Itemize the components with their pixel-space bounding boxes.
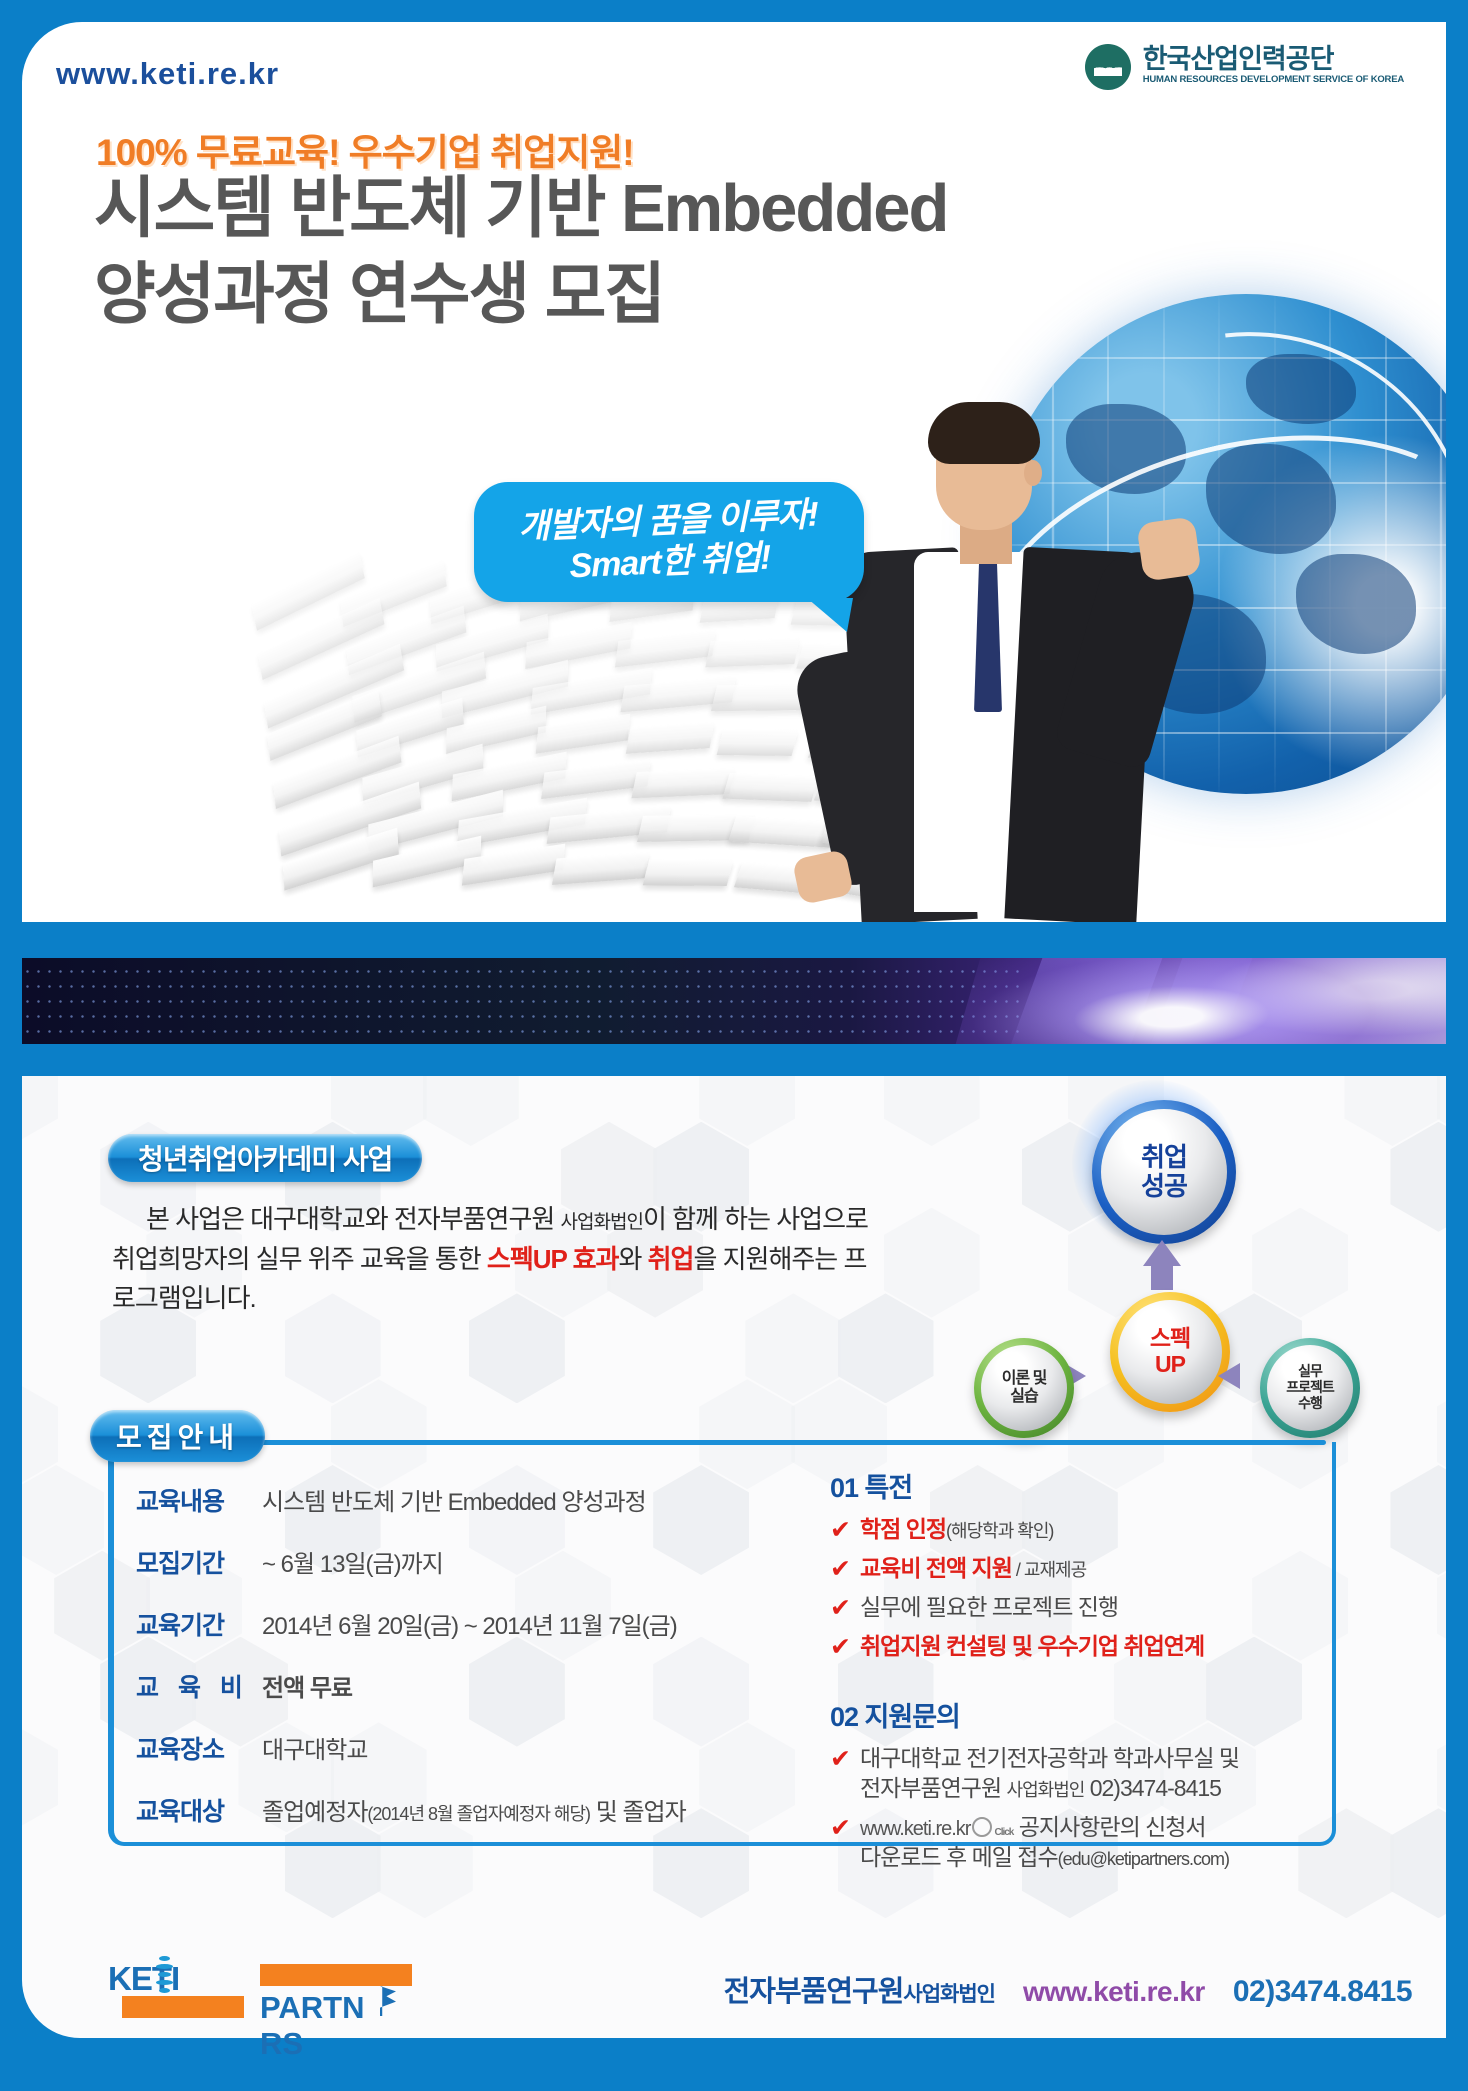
hero-website-url[interactable]: www.keti.re.kr [56, 56, 279, 92]
benefit-item: ✔실무에 필요한 프로젝트 진행 [830, 1593, 1300, 1623]
partners-wordmark: PARTN RS [260, 1990, 368, 2062]
diagram-node-success: 취업 성공 [1092, 1100, 1236, 1244]
contact-title: 02 지원문의 [830, 1695, 1300, 1734]
info-row: 교육기간2014년 6월 20일(금) ~ 2014년 11월 7일(금) [136, 1606, 796, 1642]
info-row-label: 교육내용 [136, 1482, 262, 1518]
specup-line1: 스펙 [1150, 1326, 1190, 1352]
info-row-value: 전액 무료 [262, 1668, 352, 1703]
contact-text: www.keti.re.krClick 공지사항란의 신청서다운로드 후 메일 … [860, 1813, 1229, 1873]
keti-url-link[interactable]: www.keti.re.kr [860, 1818, 970, 1840]
contact-list: ✔대구대학교 전기전자공학과 학과사무실 및전자부품연구원 사업화법인 02)3… [830, 1744, 1300, 1873]
hexagon-shape [22, 1076, 58, 1146]
benefit-item: ✔학점 인정(해당학과 확인) [830, 1515, 1300, 1545]
diagram-node-project: 실무 프로젝트 수행 [1260, 1338, 1360, 1438]
benefits-title: 01 특전 [830, 1466, 1300, 1505]
info-row-label: 교 육 비 [136, 1668, 262, 1704]
info-row-label: 교육기간 [136, 1606, 262, 1642]
info-row-value: ~ 6월 13일(금)까지 [262, 1544, 443, 1579]
info-row: 교 육 비전액 무료 [136, 1668, 796, 1704]
theory-line2: 실습 [1002, 1388, 1047, 1406]
project-line3: 수행 [1286, 1396, 1334, 1412]
check-icon: ✔ [830, 1515, 860, 1545]
project-line2: 프로젝트 [1286, 1380, 1334, 1396]
info-row-value: 대구대학교 [262, 1730, 367, 1765]
info-row-label: 교육장소 [136, 1730, 262, 1766]
footer: KETI PARTN RS 전자부품연구원사업화법인 www.keti.re.k… [0, 1962, 1468, 2040]
success-line2: 성공 [1141, 1172, 1187, 1201]
info-row-label: 모집기간 [136, 1544, 262, 1580]
hrd-korea-name-en: HUMAN RESOURCES DEVELOPMENT SERVICE OF K… [1143, 73, 1404, 87]
keti-dna-icon [155, 1956, 173, 1998]
recruitment-info-top-rule [108, 1440, 1326, 1445]
section-academy-description: 본 사업은 대구대학교와 전자부품연구원 사업화법인이 함께 하는 사업으로 취… [112, 1200, 872, 1319]
right-column: 01 특전 ✔학점 인정(해당학과 확인)✔교육비 전액 지원 / 교재제공✔실… [830, 1466, 1300, 1882]
benefit-item: ✔교육비 전액 지원 / 교재제공 [830, 1554, 1300, 1584]
logo-bar-top [260, 1964, 412, 1986]
footer-org-name: 전자부품연구원 [724, 1976, 904, 2008]
desc-part1: 본 사업은 대구대학교와 전자부품연구원 [146, 1204, 561, 1234]
info-row-label: 교육대상 [136, 1792, 262, 1828]
specup-line2: UP [1150, 1352, 1190, 1378]
band-dot-pattern [22, 964, 1019, 1038]
hexagon-shape [22, 1722, 58, 1832]
check-icon: ✔ [830, 1593, 860, 1623]
speech-bubble-line1: 개발자의 꿈을 이루자! [517, 494, 818, 549]
benefit-text: 교육비 전액 지원 / 교재제공 [860, 1554, 1086, 1584]
contact-item: ✔대구대학교 전기전자공학과 학과사무실 및전자부품연구원 사업화법인 02)3… [830, 1744, 1300, 1804]
info-row: 모집기간~ 6월 13일(금)까지 [136, 1544, 796, 1580]
footer-telephone: 02)3474.8415 [1233, 1975, 1412, 2009]
contact-item: ✔www.keti.re.krClick 공지사항란의 신청서다운로드 후 메일… [830, 1813, 1300, 1873]
benefits-list: ✔학점 인정(해당학과 확인)✔교육비 전액 지원 / 교재제공✔실무에 필요한… [830, 1515, 1300, 1662]
page-title: 시스템 반도체 기반 Embedded 양성과정 연수생 모집 [94, 166, 947, 338]
hexagon-shape [1390, 1465, 1446, 1575]
desc-highlight-specup: 스펙UP 효과 [487, 1244, 619, 1274]
hexagon-shape [423, 1076, 519, 1146]
check-icon: ✔ [830, 1813, 860, 1843]
project-line1: 실무 [1286, 1364, 1334, 1380]
contact-text: 대구대학교 전기전자공학과 학과사무실 및전자부품연구원 사업화법인 02)34… [860, 1744, 1239, 1804]
check-icon: ✔ [830, 1554, 860, 1584]
speech-bubble-line2: Smart한 취업! [569, 538, 772, 588]
benefit-item: ✔취업지원 컨설팅 및 우수기업 취업연계 [830, 1632, 1300, 1662]
hrd-korea-mark-icon [1085, 44, 1131, 90]
desc-small1: 사업화법인 [561, 1212, 643, 1233]
recruitment-info-pill: 모집안내 [90, 1410, 265, 1462]
benefit-text: 취업지원 컨설팅 및 우수기업 취업연계 [860, 1632, 1204, 1662]
info-row-value: 2014년 6월 20일(금) ~ 2014년 11월 7일(금) [262, 1606, 677, 1641]
partners-flag-icon [380, 1986, 396, 2016]
hexagon-shape [1390, 1808, 1446, 1918]
logo-bar-bottom [122, 1996, 244, 2018]
diagram-node-specup: 스펙 UP [1110, 1292, 1230, 1412]
recruitment-info-rows: 교육내용시스템 반도체 기반 Embedded 양성과정모집기간~ 6월 13일… [136, 1482, 796, 1854]
info-row-value: 졸업예정자(2014년 8월 졸업자예정자 해당) 및 졸업자 [262, 1792, 686, 1827]
info-row-value: 시스템 반도체 기반 Embedded 양성과정 [262, 1482, 646, 1517]
diagram-node-theory: 이론 및 실습 [974, 1338, 1074, 1438]
info-row: 교육대상졸업예정자(2014년 8월 졸업자예정자 해당) 및 졸업자 [136, 1792, 796, 1828]
poster-root: www.keti.re.kr 한국산업인력공단 HUMAN RESOURCES … [0, 0, 1468, 2091]
hrd-korea-logo: 한국산업인력공단 HUMAN RESOURCES DEVELOPMENT SER… [1085, 44, 1404, 90]
check-icon: ✔ [830, 1632, 860, 1662]
hrd-korea-name-ko: 한국산업인력공단 [1143, 46, 1404, 73]
hero-panel: www.keti.re.kr 한국산업인력공단 HUMAN RESOURCES … [22, 22, 1446, 922]
specup-diagram: 취업 성공 스펙 UP 이론 및 실습 [940, 1100, 1360, 1410]
benefit-text: 실무에 필요한 프로젝트 진행 [860, 1593, 1118, 1623]
theory-line1: 이론 및 [1002, 1370, 1047, 1388]
info-row: 교육내용시스템 반도체 기반 Embedded 양성과정 [136, 1482, 796, 1518]
desc-highlight-employment: 취업 [648, 1244, 694, 1274]
desc-part3: 와 [618, 1244, 647, 1274]
info-row: 교육장소대구대학교 [136, 1730, 796, 1766]
footer-org: 전자부품연구원사업화법인 [724, 1968, 995, 2010]
check-icon: ✔ [830, 1744, 860, 1774]
success-line1: 취업 [1141, 1143, 1187, 1172]
footer-org-suffix: 사업화법인 [903, 1983, 995, 2006]
arrow-left-icon [1218, 1363, 1240, 1389]
cursor-click-icon [972, 1817, 992, 1837]
speech-bubble: 개발자의 꿈을 이루자! Smart한 취업! [474, 482, 864, 602]
businessman-photo [818, 402, 1188, 922]
benefit-text: 학점 인정(해당학과 확인) [860, 1515, 1053, 1545]
footer-url[interactable]: www.keti.re.kr [1023, 1976, 1205, 2008]
keti-partners-logo: KETI PARTN RS [108, 1950, 368, 2028]
section-academy-pill: 청년취업아카데미 사업 [108, 1134, 422, 1182]
decorative-band [22, 958, 1446, 1044]
band-glow [940, 958, 1446, 1044]
footer-contact: 전자부품연구원사업화법인 www.keti.re.kr 02)3474.8415 [724, 1968, 1412, 2010]
